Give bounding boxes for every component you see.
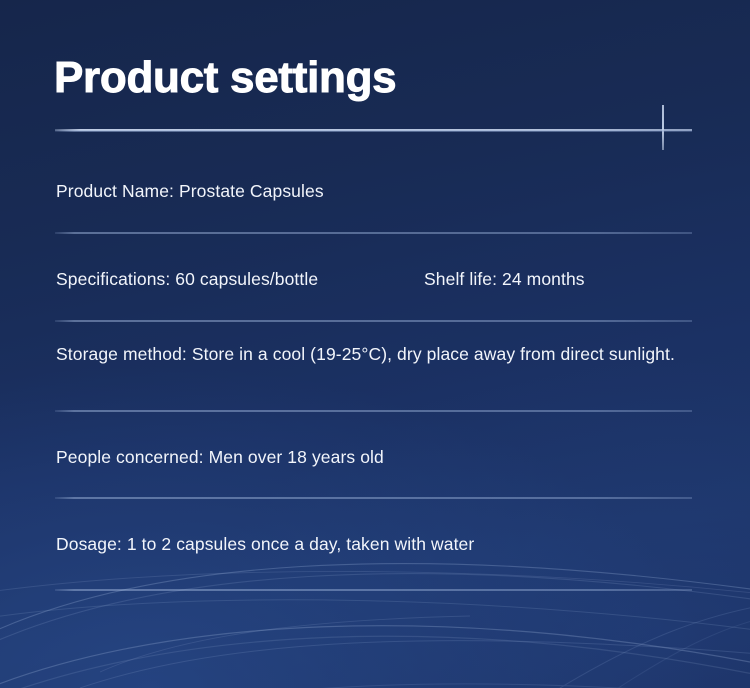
- page-title: Product settings: [54, 52, 396, 104]
- header-tick-mark: [662, 105, 664, 150]
- row-divider: [55, 410, 692, 412]
- dosage-text: Dosage: 1 to 2 capsules once a day, take…: [56, 531, 474, 558]
- shelf-life-text: Shelf life: 24 months: [424, 266, 585, 293]
- product-settings-page: Product settings Product Name: Prostate …: [0, 0, 750, 688]
- product-name-text: Product Name: Prostate Capsules: [56, 178, 324, 205]
- row-divider: [55, 589, 692, 591]
- row-divider: [55, 232, 692, 234]
- storage-method-text: Storage method: Store in a cool (19-25°C…: [56, 341, 692, 368]
- specifications-text: Specifications: 60 capsules/bottle: [56, 266, 318, 293]
- row-divider: [55, 130, 692, 132]
- row-divider: [55, 320, 692, 322]
- row-divider: [55, 497, 692, 499]
- people-concerned-text: People concerned: Men over 18 years old: [56, 444, 384, 471]
